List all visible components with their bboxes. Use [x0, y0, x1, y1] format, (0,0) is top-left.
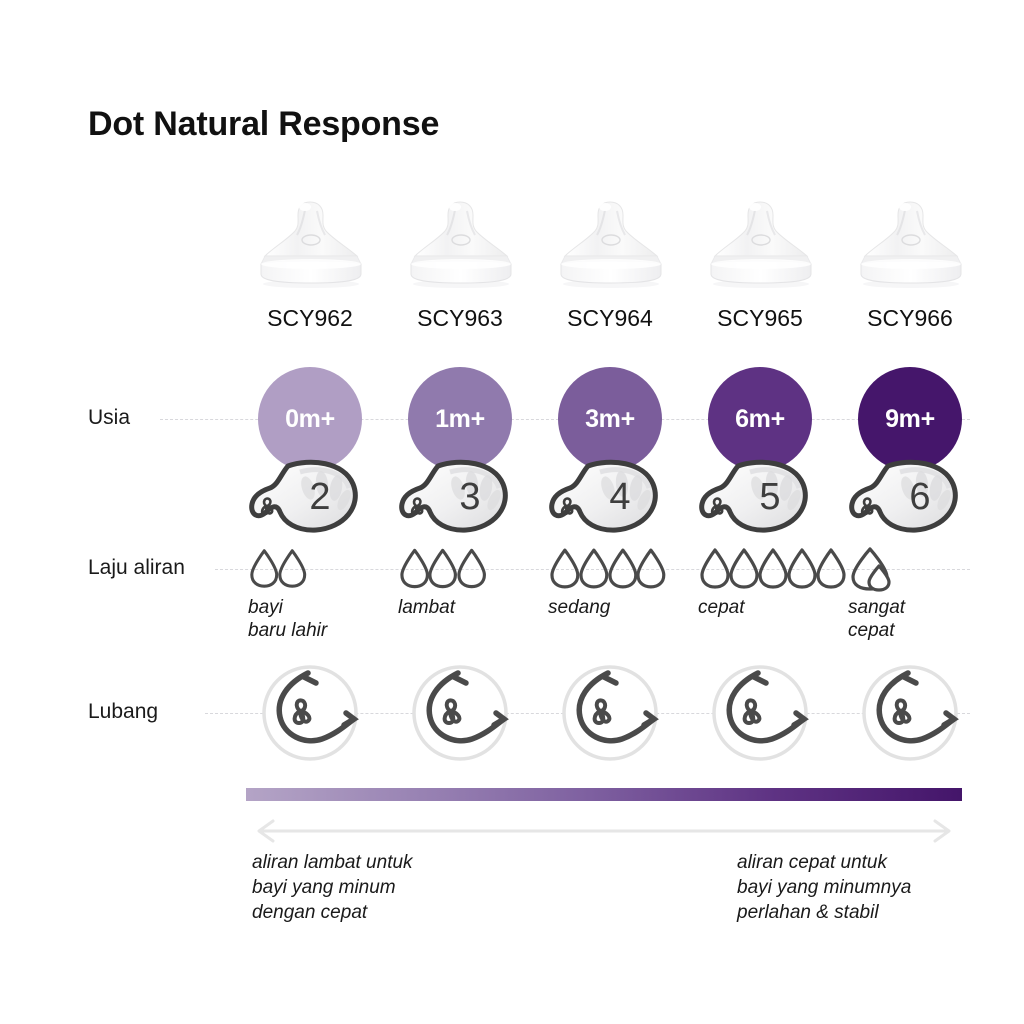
- flow-rate-label: lambat: [398, 596, 455, 619]
- teat-product-photo-svg: [685, 198, 835, 290]
- teat-photo-scy962: [235, 198, 385, 290]
- flow-rate-label: sangat cepat: [848, 596, 905, 642]
- teat-flow-number: 5: [698, 452, 816, 538]
- flow-direction-arrow: [246, 818, 962, 844]
- flow-drops: [248, 546, 308, 590]
- page-title: Dot Natural Response: [88, 105, 439, 144]
- product-code: SCY965: [685, 305, 835, 332]
- flow-rate-label: sedang: [548, 596, 610, 619]
- teat-flow-number: 6: [848, 452, 966, 538]
- teat-photo-scy966: [835, 198, 985, 290]
- flow-drops: [398, 546, 488, 590]
- product-code: SCY966: [835, 305, 985, 332]
- teat-flow-number: 2: [248, 452, 366, 538]
- flow-drops: [848, 546, 896, 592]
- hole-detail-svg: [560, 663, 660, 763]
- product-code: SCY964: [535, 305, 685, 332]
- row-label-flow-rate: Laju aliran: [88, 556, 185, 580]
- teat-flow-number: 3: [398, 452, 516, 538]
- teat-photo: [235, 198, 385, 290]
- water-drop-icon: [634, 546, 668, 590]
- hole-detail-icon: [410, 663, 510, 768]
- teat-flow-6-icon: 6: [848, 452, 966, 538]
- hole-detail-svg: [710, 663, 810, 763]
- hole-detail-icon: [560, 663, 660, 768]
- row-label-hole: Lubang: [88, 700, 158, 724]
- flow-drops: [548, 546, 668, 590]
- hole-detail-svg: [410, 663, 510, 763]
- flow-rate-label: cepat: [698, 596, 744, 619]
- teat-flow-4-icon: 4: [548, 452, 666, 538]
- teat-photo: [535, 198, 685, 290]
- hole-detail-icon: [710, 663, 810, 768]
- teat-product-photo-svg: [535, 198, 685, 290]
- teat-flow-3-icon: 3: [398, 452, 516, 538]
- teat-photo: [835, 198, 985, 290]
- caption-left: aliran lambat untuk bayi yang minum deng…: [252, 850, 413, 925]
- water-drop-icon: [455, 546, 488, 590]
- product-code: SCY962: [235, 305, 385, 332]
- water-drop-icon: [814, 546, 848, 590]
- row-label-age: Usia: [88, 406, 130, 430]
- caption-right: aliran cepat untuk bayi yang minumnya pe…: [737, 850, 911, 925]
- hole-detail-svg: [260, 663, 360, 763]
- water-drop-fast-icon: [848, 546, 896, 592]
- infographic-canvas: Dot Natural Response Usia Laju aliran Lu…: [0, 0, 1024, 1024]
- teat-photo-scy965: [685, 198, 835, 290]
- product-code: SCY963: [385, 305, 535, 332]
- teat-flow-5-icon: 5: [698, 452, 816, 538]
- teat-photo-scy964: [535, 198, 685, 290]
- flow-rate-label: bayi baru lahir: [248, 596, 327, 642]
- teat-flow-number: 4: [548, 452, 666, 538]
- teat-product-photo-svg: [835, 198, 985, 290]
- teat-photo: [385, 198, 535, 290]
- teat-photo-scy963: [385, 198, 535, 290]
- flow-gradient-bar: [246, 788, 962, 801]
- hole-detail-svg: [860, 663, 960, 763]
- hole-detail-icon: [860, 663, 960, 768]
- hole-detail-icon: [260, 663, 360, 768]
- teat-product-photo-svg: [385, 198, 535, 290]
- teat-flow-2-icon: 2: [248, 452, 366, 538]
- flow-drops: [698, 546, 848, 590]
- teat-product-photo-svg: [235, 198, 385, 290]
- teat-photo: [685, 198, 835, 290]
- water-drop-icon: [276, 546, 309, 590]
